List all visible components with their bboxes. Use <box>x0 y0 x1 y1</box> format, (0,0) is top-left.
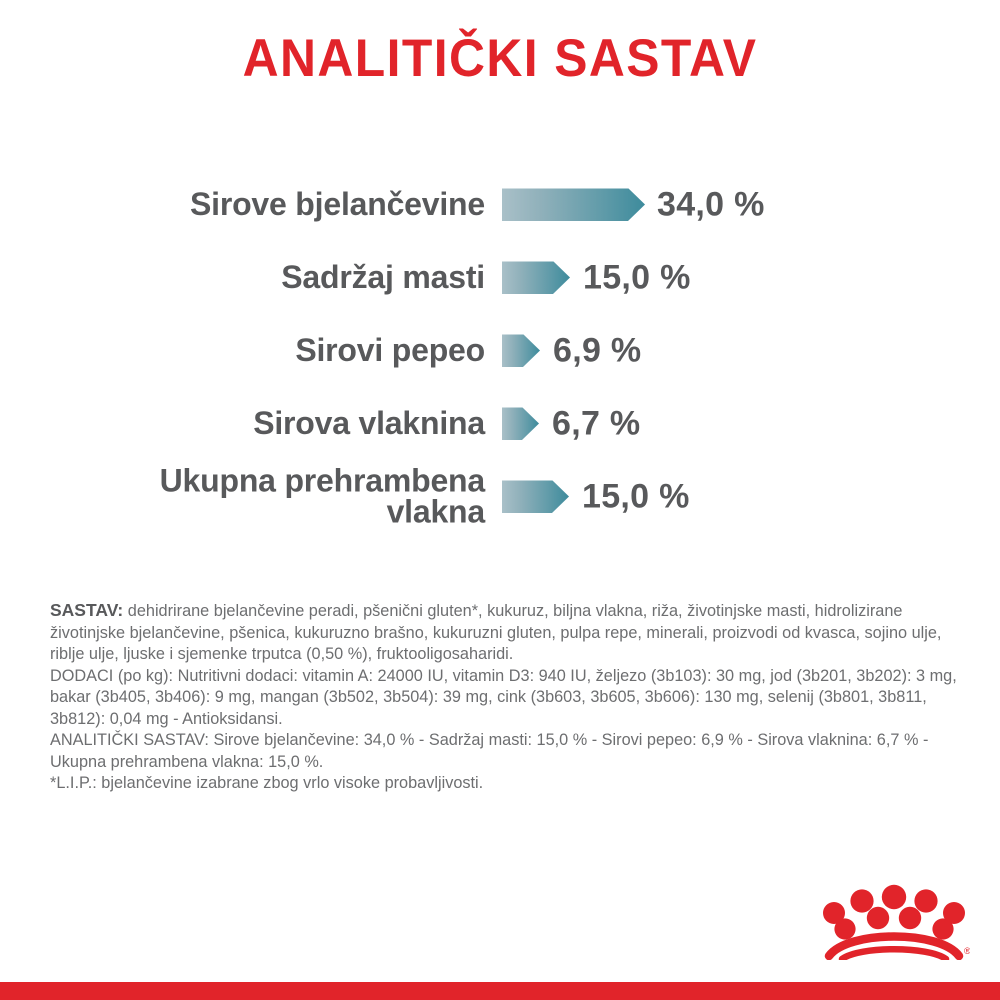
composition-text-block: SASTAV: dehidrirane bjelančevine peradi,… <box>50 600 962 795</box>
nutrient-rows: Sirove bjelančevine 34,0 % Sadržaj masti… <box>0 168 1000 533</box>
page-title: ANALITIČKI SASTAV <box>30 28 970 89</box>
nutrient-row: Ukupna prehrambena vlakna 15,0 % <box>0 460 1000 533</box>
composition-analiticki-paragraph: ANALITIČKI SASTAV: Sirove bjelančevine: … <box>50 730 962 773</box>
royal-canin-crown-logo: ® <box>818 884 970 960</box>
nutrient-label: Sadržaj masti <box>281 262 485 294</box>
nutrient-bar <box>502 261 570 294</box>
nutrient-value: 6,9 % <box>553 331 641 370</box>
composition-lead-label: SASTAV: <box>50 600 123 620</box>
nutrient-value: 34,0 % <box>657 185 765 224</box>
nutrient-row: Sirovi pepeo 6,9 % <box>0 314 1000 387</box>
nutrient-bar <box>502 407 539 440</box>
nutrient-bar <box>502 188 645 221</box>
nutrient-label: Sirova vlaknina <box>253 408 485 440</box>
crown-dots <box>823 885 965 940</box>
nutrient-row: Sadržaj masti 15,0 % <box>0 241 1000 314</box>
footer-red-bar <box>0 982 1000 1000</box>
nutrient-label: Sirove bjelančevine <box>190 189 485 221</box>
nutrient-row: Sirova vlaknina 6,7 % <box>0 387 1000 460</box>
nutrient-row: Sirove bjelančevine 34,0 % <box>0 168 1000 241</box>
composition-lip-paragraph: *L.I.P.: bjelančevine izabrane zbog vrlo… <box>50 773 962 795</box>
nutrient-value: 15,0 % <box>582 477 690 516</box>
nutrient-value: 6,7 % <box>552 404 640 443</box>
registered-mark-icon: ® <box>964 946 970 956</box>
nutrient-value: 15,0 % <box>583 258 691 297</box>
crown-arcs <box>829 937 959 960</box>
nutrient-label: Sirovi pepeo <box>295 335 485 367</box>
composition-dodaci-paragraph: DODACI (po kg): Nutritivni dodaci: vitam… <box>50 666 962 731</box>
composition-sastav-paragraph: SASTAV: dehidrirane bjelančevine peradi,… <box>50 600 962 666</box>
composition-sastav-text: dehidrirane bjelančevine peradi, pšeničn… <box>50 602 941 663</box>
nutrient-label: Ukupna prehrambena vlakna <box>160 465 485 528</box>
nutrient-bar <box>502 334 540 367</box>
nutrient-bar <box>502 480 569 513</box>
nutrition-panel: ANALITIČKI SASTAV Sirove bjelančevine 34… <box>0 0 1000 1000</box>
